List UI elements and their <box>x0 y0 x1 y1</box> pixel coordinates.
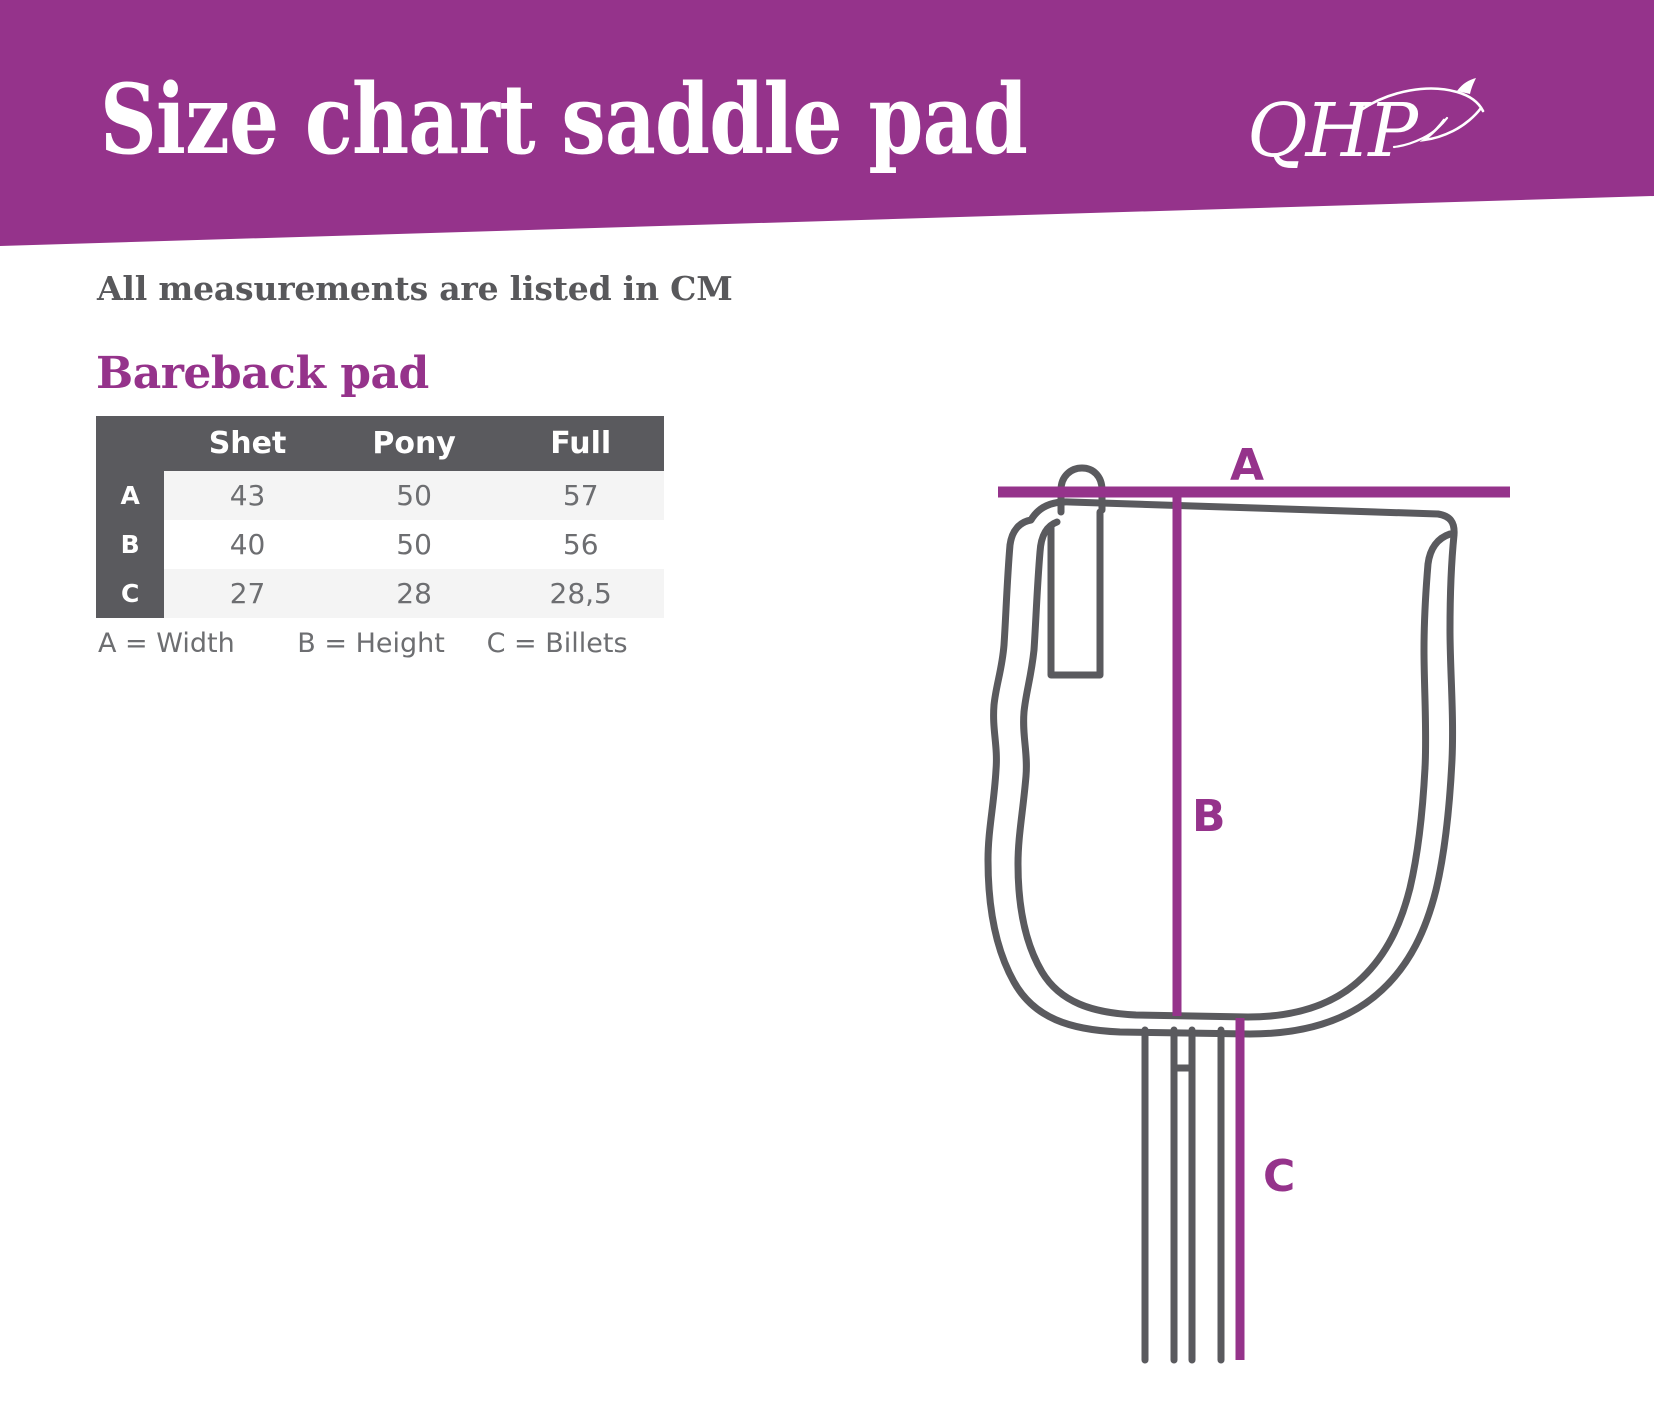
table-corner-cell <box>96 416 164 471</box>
table-header: Shet Pony Full <box>96 416 664 471</box>
dimension-label-c: C <box>1263 1155 1295 1199</box>
dimension-label-b: B <box>1192 795 1226 839</box>
cell-b-shet: 40 <box>164 520 331 569</box>
page-title: Size chart saddle pad <box>100 70 1027 171</box>
dimension-lines <box>998 492 1510 1360</box>
cell-a-full: 57 <box>497 471 664 520</box>
cell-b-pony: 50 <box>331 520 498 569</box>
legend-item-b: B = Height <box>297 628 486 659</box>
column-header-shet: Shet <box>164 416 331 471</box>
cell-c-shet: 27 <box>164 569 331 618</box>
measurements-note: All measurements are listed in CM <box>97 269 733 308</box>
table-row: B 40 50 56 <box>96 520 664 569</box>
pad-outline-icon <box>988 468 1454 1360</box>
table-row: A 43 50 57 <box>96 471 664 520</box>
row-label-b: B <box>96 520 164 569</box>
dimension-label-a: A <box>1230 444 1264 488</box>
table-header-row: Shet Pony Full <box>96 416 664 471</box>
qhp-logo: QHP <box>1243 78 1493 183</box>
row-label-a: A <box>96 471 164 520</box>
horse-head-logo-icon: QHP <box>1243 78 1493 183</box>
cell-c-full: 28,5 <box>497 569 664 618</box>
bareback-pad-diagram: A B C <box>930 430 1570 1360</box>
size-chart-table: Shet Pony Full A 43 50 57 B 40 50 56 C 2… <box>96 416 664 618</box>
table-body: A 43 50 57 B 40 50 56 C 27 28 28,5 <box>96 471 664 618</box>
legend-item-c: C = Billets <box>487 628 664 659</box>
cell-b-full: 56 <box>497 520 664 569</box>
cell-a-pony: 50 <box>331 471 498 520</box>
cell-a-shet: 43 <box>164 471 331 520</box>
column-header-pony: Pony <box>331 416 498 471</box>
row-label-c: C <box>96 569 164 618</box>
dimension-legend: A = Width B = Height C = Billets <box>96 628 664 659</box>
table-row: C 27 28 28,5 <box>96 569 664 618</box>
column-header-full: Full <box>497 416 664 471</box>
cell-c-pony: 28 <box>331 569 498 618</box>
section-title: Bareback pad <box>96 348 429 399</box>
legend-item-a: A = Width <box>96 628 297 659</box>
qhp-wordmark: QHP <box>1247 88 1419 174</box>
